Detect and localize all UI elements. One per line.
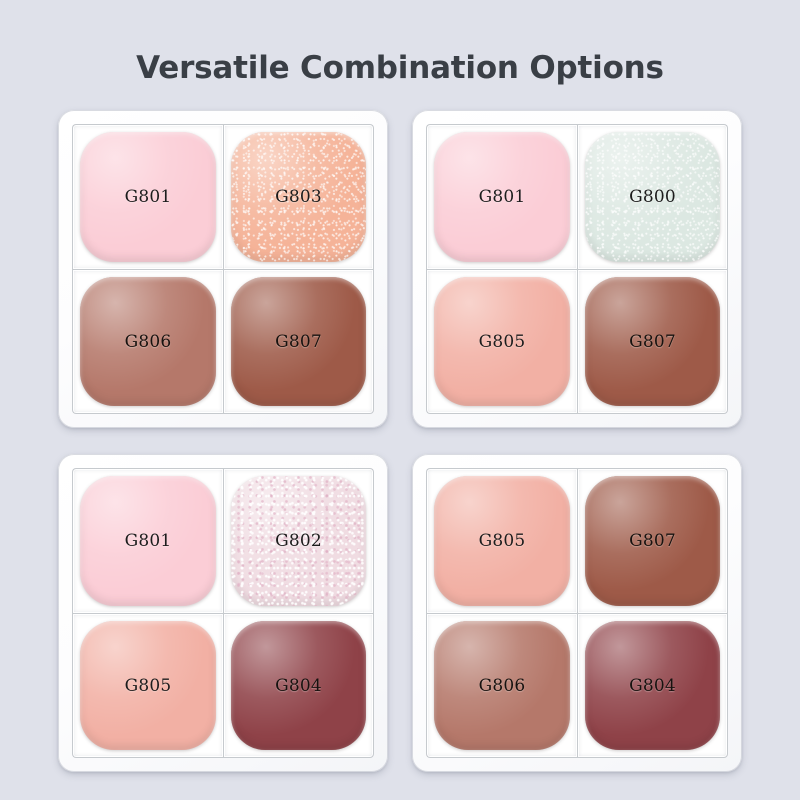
pan-cell[interactable]: G805 — [426, 269, 577, 414]
powder-pan[interactable]: G805 — [80, 621, 216, 750]
pan-label: G801 — [125, 531, 172, 551]
powder-pan[interactable]: G801 — [80, 476, 216, 606]
pan-label: G804 — [629, 676, 676, 696]
pan-cell[interactable]: G804 — [577, 613, 728, 758]
palette-tray: G805 G807 G806 G804 — [426, 468, 728, 758]
palette-tray: G801 G802 G805 G804 — [72, 468, 374, 758]
pan-label: G806 — [125, 332, 172, 352]
pan-label: G806 — [479, 676, 526, 696]
pan-cell[interactable]: G807 — [223, 269, 374, 414]
pan-label: G805 — [479, 531, 526, 551]
powder-pan[interactable]: G806 — [80, 277, 216, 406]
powder-pan[interactable]: G805 — [434, 476, 570, 606]
pan-cell[interactable]: G807 — [577, 269, 728, 414]
pan-cell[interactable]: G801 — [72, 124, 223, 269]
pan-cell[interactable]: G801 — [72, 468, 223, 613]
powder-pan[interactable]: G804 — [231, 621, 366, 750]
powder-pan[interactable]: G804 — [585, 621, 720, 750]
palette-card-bottom-right[interactable]: G805 G807 G806 G804 — [412, 454, 742, 772]
powder-pan[interactable]: G807 — [231, 277, 366, 406]
pan-cell[interactable]: G807 — [577, 468, 728, 613]
palette-grid: G801 G803 G806 G807 — [58, 110, 742, 782]
pan-cell[interactable]: G803 — [223, 124, 374, 269]
pan-cell[interactable]: G801 — [426, 124, 577, 269]
palette-card-top-right[interactable]: G801 G800 G805 G807 — [412, 110, 742, 428]
pan-cell[interactable]: G800 — [577, 124, 728, 269]
pan-cell[interactable]: G806 — [426, 613, 577, 758]
palette-card-top-left[interactable]: G801 G803 G806 G807 — [58, 110, 388, 428]
powder-pan[interactable]: G800 — [585, 132, 720, 262]
palette-tray: G801 G803 G806 G807 — [72, 124, 374, 414]
powder-pan[interactable]: G807 — [585, 277, 720, 406]
palette-card-bottom-left[interactable]: G801 G802 G805 G804 — [58, 454, 388, 772]
pan-label: G804 — [275, 676, 322, 696]
pan-label: G807 — [275, 332, 322, 352]
pan-cell[interactable]: G805 — [72, 613, 223, 758]
powder-pan[interactable]: G802 — [231, 476, 366, 606]
powder-pan[interactable]: G801 — [80, 132, 216, 262]
pan-label: G805 — [125, 676, 172, 696]
powder-pan[interactable]: G805 — [434, 277, 570, 406]
pan-label: G801 — [479, 187, 526, 207]
pan-label: G801 — [125, 187, 172, 207]
pan-cell[interactable]: G802 — [223, 468, 374, 613]
powder-pan[interactable]: G803 — [231, 132, 366, 262]
pan-label: G803 — [275, 187, 322, 207]
pan-cell[interactable]: G805 — [426, 468, 577, 613]
powder-pan[interactable]: G807 — [585, 476, 720, 606]
pan-cell[interactable]: G806 — [72, 269, 223, 414]
pan-label: G807 — [629, 531, 676, 551]
pan-label: G802 — [275, 531, 322, 551]
pan-cell[interactable]: G804 — [223, 613, 374, 758]
powder-pan[interactable]: G806 — [434, 621, 570, 750]
pan-label: G800 — [629, 187, 676, 207]
pan-label: G807 — [629, 332, 676, 352]
pan-label: G805 — [479, 332, 526, 352]
palette-tray: G801 G800 G805 G807 — [426, 124, 728, 414]
powder-pan[interactable]: G801 — [434, 132, 570, 262]
product-showcase-page: Versatile Combination Options G801 G803 … — [0, 0, 800, 800]
page-title: Versatile Combination Options — [0, 48, 800, 88]
